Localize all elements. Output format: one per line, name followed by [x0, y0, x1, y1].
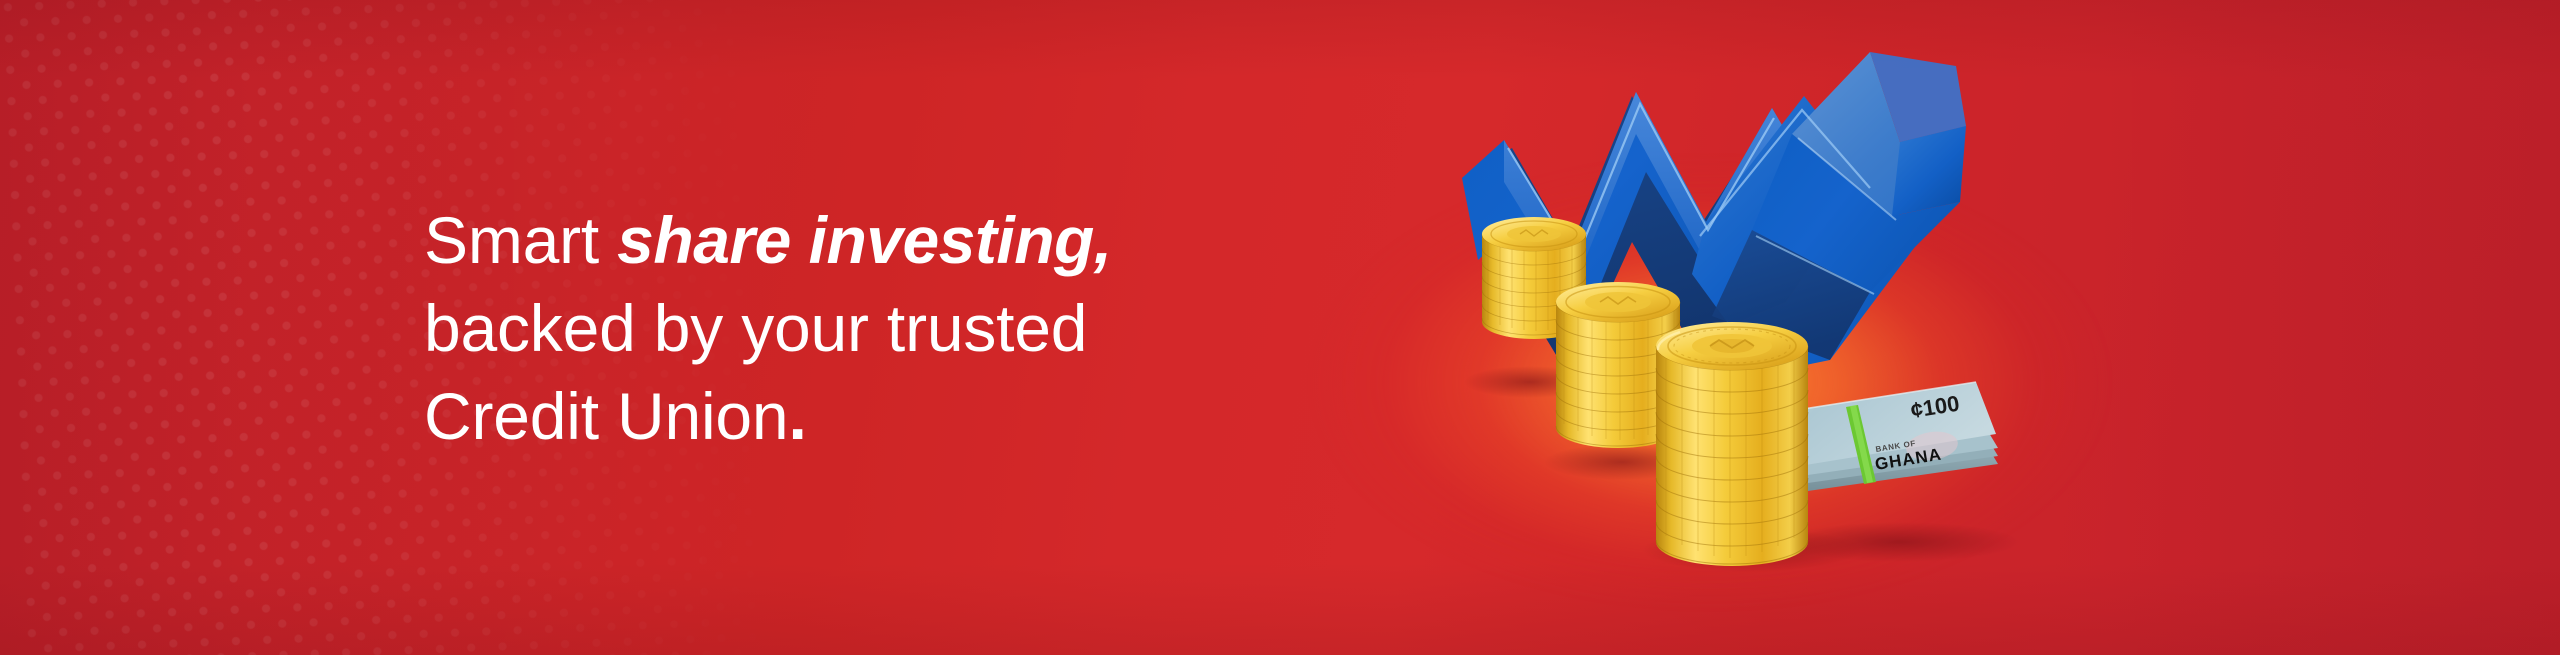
headline-line-1: Smart share investing,	[424, 196, 1424, 284]
coin-stack-front	[1656, 322, 1808, 566]
headline-line-2: backed by your trusted	[424, 284, 1424, 372]
headline-line-3-text: Credit Union	[424, 379, 788, 453]
headline-period: .	[788, 379, 806, 453]
hero-banner: Smart share investing, backed by your tr…	[0, 0, 2560, 655]
headline-line-3: Credit Union.	[424, 372, 1424, 460]
money-growth-illustration: ¢100 BANK OF GHANA	[1400, 30, 2060, 590]
headline-emphasis: share investing,	[617, 203, 1112, 277]
headline: Smart share investing, backed by your tr…	[424, 196, 1424, 460]
headline-line-1-prefix: Smart	[424, 203, 617, 277]
